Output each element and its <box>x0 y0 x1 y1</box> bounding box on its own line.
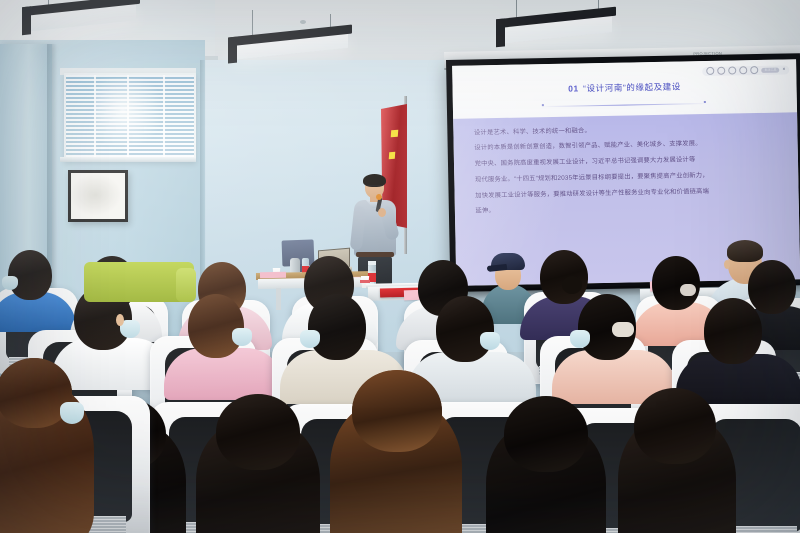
attendee-head <box>8 250 52 300</box>
attendee-head <box>704 298 762 364</box>
list-item <box>330 370 464 533</box>
face-mask-icon <box>60 402 84 424</box>
list-item <box>566 294 660 390</box>
microphone-head-icon <box>376 194 382 200</box>
attendee-head <box>352 370 442 452</box>
ceiling-vent-dot <box>300 20 306 24</box>
face-mask-icon <box>300 330 320 348</box>
presentation-toolbar[interactable]: 批注工具 × <box>702 65 789 76</box>
hair-bun <box>562 276 582 294</box>
laser-pointer-icon[interactable] <box>739 66 747 74</box>
presenter-hand <box>378 208 386 217</box>
list-item <box>0 358 98 533</box>
list-item <box>486 396 608 533</box>
hair-tie-icon <box>612 322 634 337</box>
face-mask-icon <box>232 328 252 346</box>
ear <box>724 260 730 269</box>
hair-tie-icon <box>680 284 696 296</box>
eraser-icon[interactable] <box>728 66 736 74</box>
attendee-head <box>188 294 244 358</box>
list-item <box>178 294 270 386</box>
list-item <box>618 388 738 533</box>
close-icon[interactable]: × <box>782 67 785 72</box>
toolbar-pill-label[interactable]: 批注工具 <box>761 67 779 72</box>
attendee-head <box>504 396 588 472</box>
lecture-room-photo: PROJECTION 01 “设计河南”的缘起及建设 设计是艺术、科学、技术的统… <box>0 0 800 533</box>
table-leg <box>276 288 281 310</box>
face-mask-icon <box>480 332 500 350</box>
list-item <box>690 298 786 394</box>
glasses-icon <box>366 185 383 189</box>
face-mask-icon <box>570 330 590 348</box>
rule-tick <box>704 101 706 103</box>
list-item <box>0 250 66 322</box>
attendee-head <box>436 296 494 362</box>
list-item <box>196 394 322 533</box>
window-light-glow <box>95 78 165 150</box>
rule-tick <box>542 104 544 106</box>
attendee-short-hair <box>727 240 763 262</box>
face-mask-icon <box>2 276 18 290</box>
slide-title: “设计河南”的缘起及建设 <box>583 82 681 94</box>
pointer-icon[interactable] <box>750 66 758 74</box>
framed-picture <box>68 170 128 222</box>
green-sofa-arm <box>176 268 196 302</box>
highlighter-icon[interactable] <box>717 67 725 75</box>
attendee-head <box>308 294 366 360</box>
attendee-head <box>634 388 716 464</box>
flag-star-icon <box>391 130 399 137</box>
pen-icon[interactable] <box>706 67 714 75</box>
flag-star-icon <box>389 152 396 159</box>
ear <box>116 314 124 326</box>
slide-number: 01 <box>568 84 579 94</box>
picture-artwork <box>71 173 125 219</box>
slide-body-text: 设计是艺术、科学、技术的统一和融合。设计的本质是创新创意创造，数智引领产品、赋能… <box>474 120 785 221</box>
attendee-head <box>216 394 300 470</box>
window-sill <box>60 157 196 162</box>
